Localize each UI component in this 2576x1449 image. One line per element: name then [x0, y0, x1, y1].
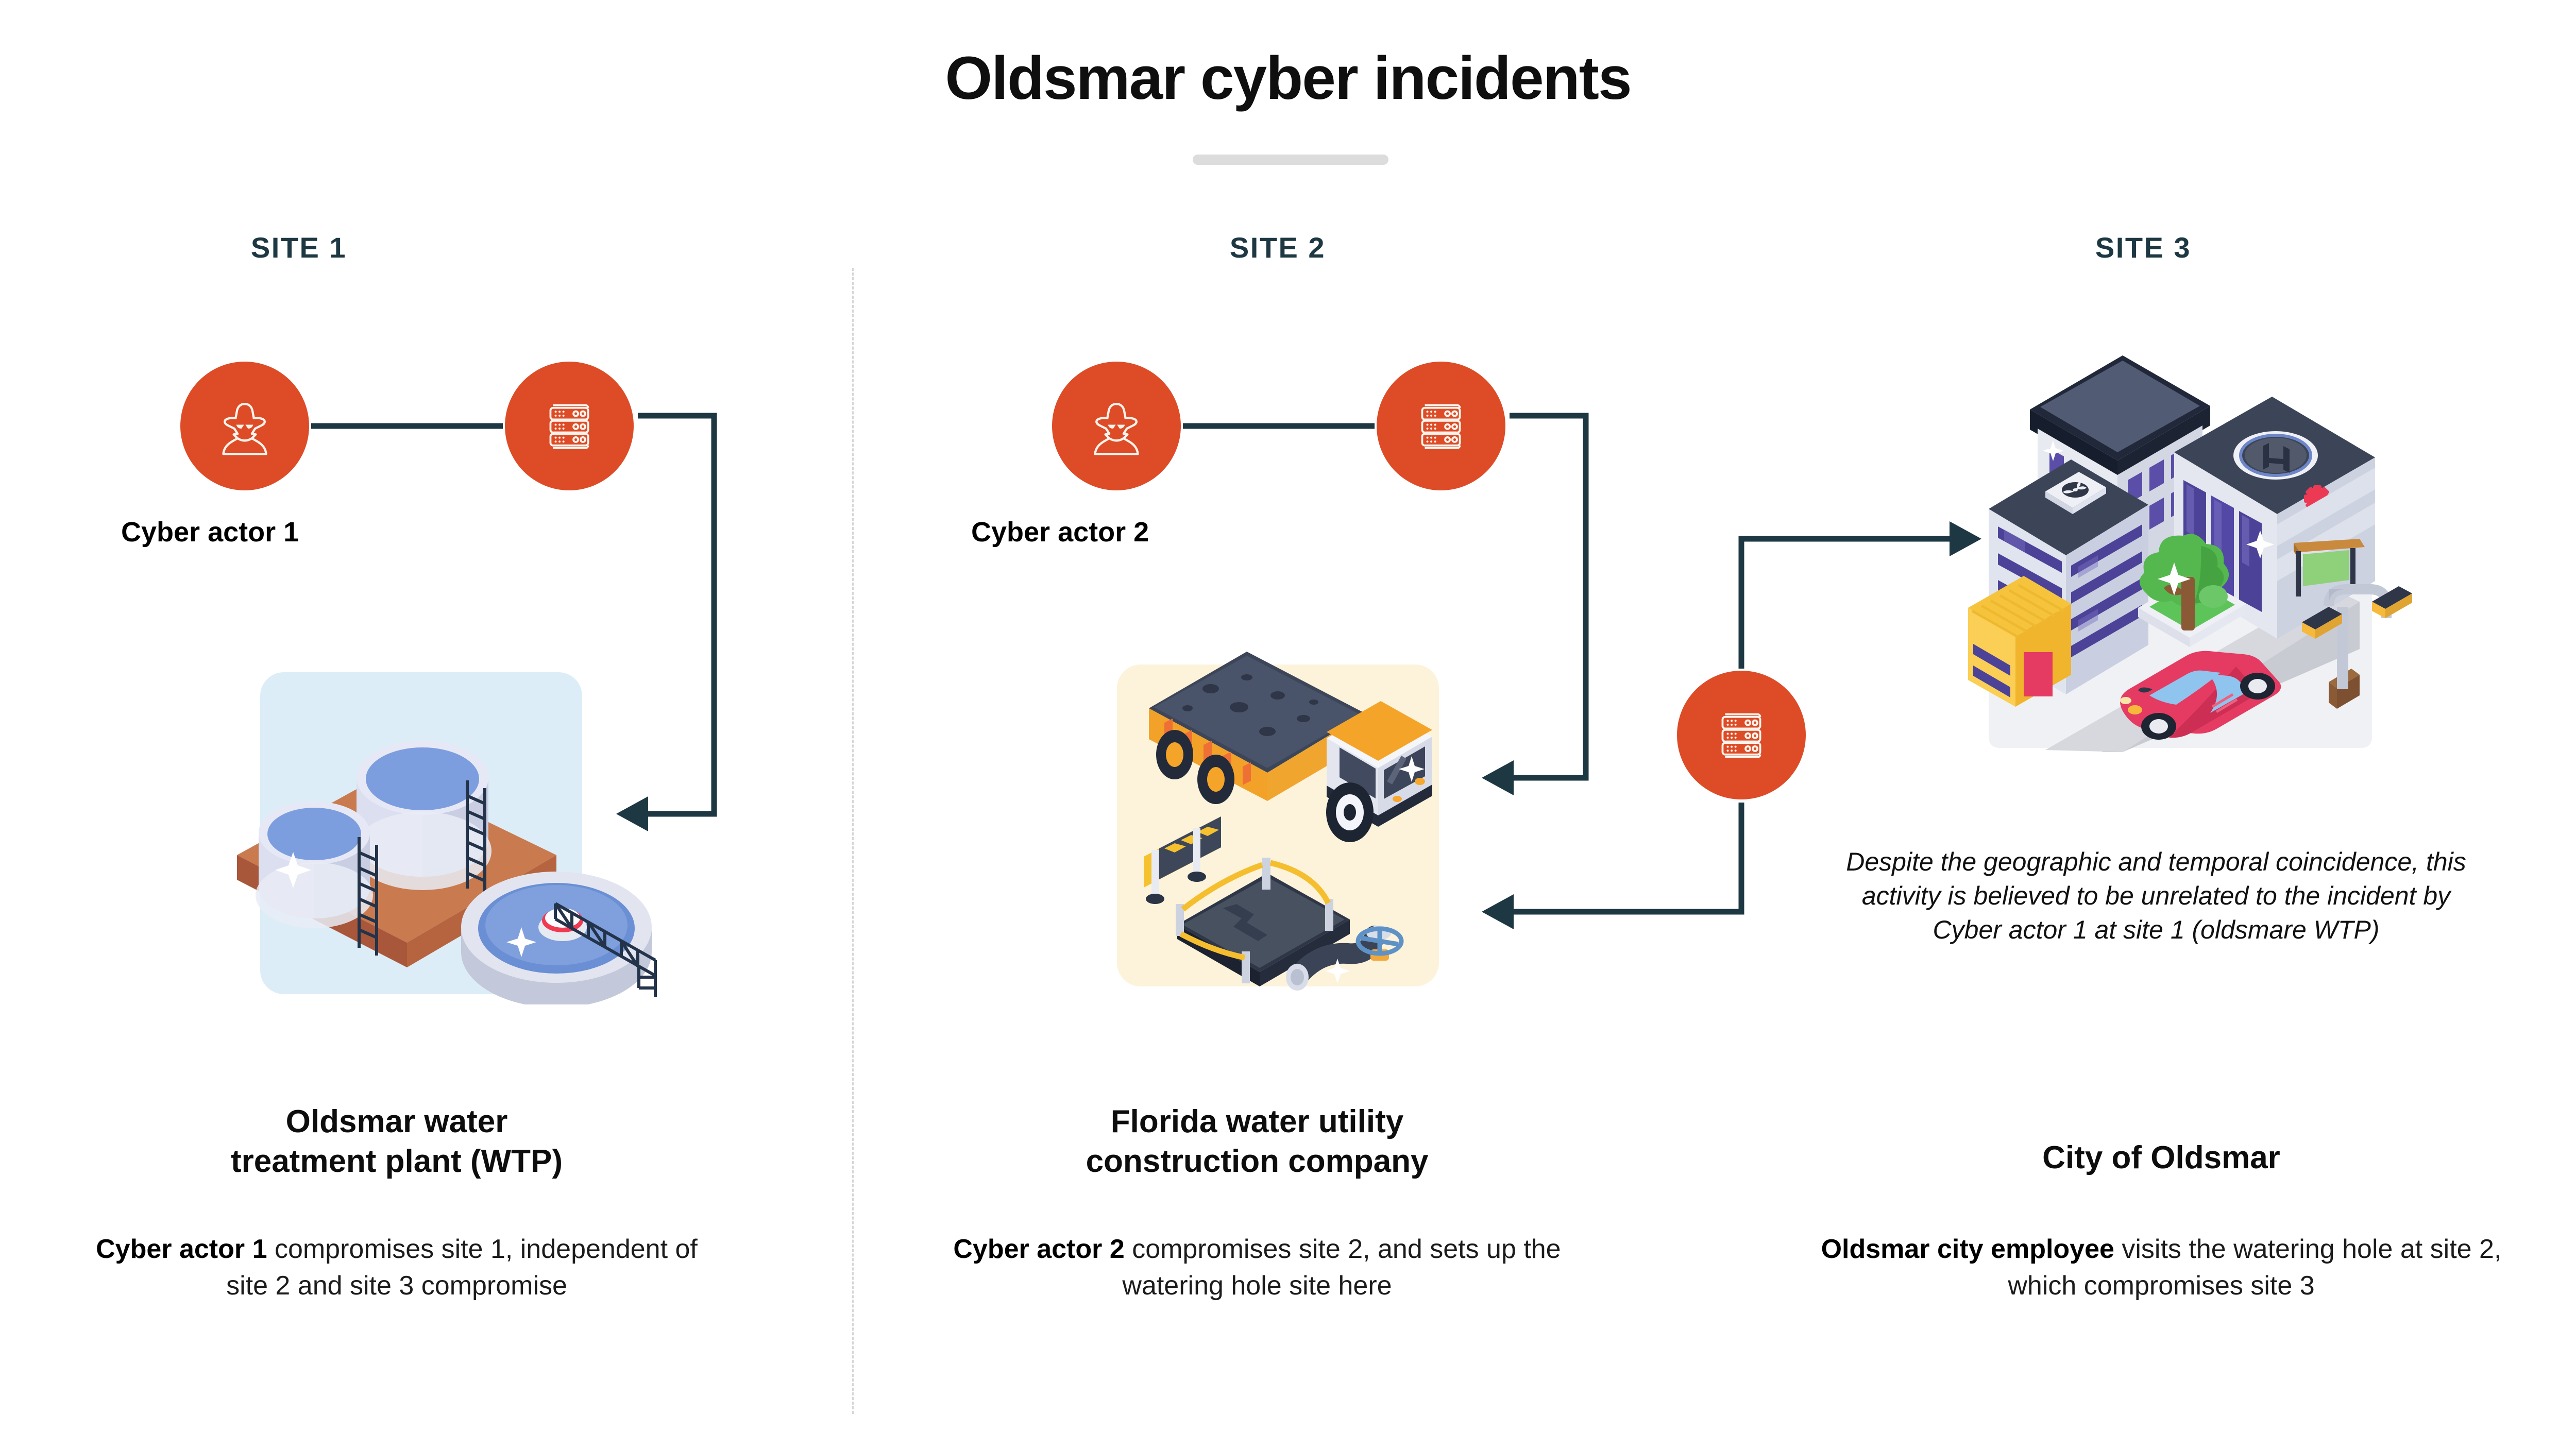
title-divider-rule: [1193, 155, 1388, 165]
water-treatment-plant-illustration: [216, 685, 670, 1004]
site-3-body-bold: Oldsmar city employee: [1821, 1234, 2114, 1264]
construction-site-illustration: [1092, 646, 1504, 997]
site-1-body-rest: compromises site 1, independent of site …: [226, 1234, 698, 1301]
isometric-city-illustration: [1968, 319, 2463, 788]
site-1-heading-line-1: Oldsmar water: [286, 1104, 508, 1139]
site-2-body-rest: compromises site 2, and sets up the wate…: [1122, 1234, 1561, 1301]
site-1-server-node[interactable]: [505, 362, 634, 490]
site-label-3: SITE 3: [1947, 231, 2339, 264]
site-1-body: Cyber actor 1 compromises site 1, indepe…: [93, 1231, 701, 1304]
server-rack-icon: [1709, 703, 1774, 768]
site-label-1: SITE 1: [196, 231, 402, 264]
site-1-body-bold: Cyber actor 1: [96, 1234, 267, 1264]
cyber-actor-1-node[interactable]: [180, 362, 309, 490]
connector-server3-site2: [1489, 803, 1741, 912]
site-3-server-node[interactable]: [1677, 671, 1806, 799]
site-label-2: SITE 2: [1123, 231, 1432, 264]
hacker-icon: [212, 394, 277, 458]
site-2-heading-line-2: construction company: [1086, 1144, 1429, 1179]
site-1-heading-line-2: treatment plant (WTP): [231, 1144, 563, 1179]
cyber-actor-2-node[interactable]: [1052, 362, 1181, 490]
server-rack-icon: [537, 394, 602, 458]
server-rack-icon: [1409, 394, 1473, 458]
column-divider: [852, 268, 854, 1414]
site-3-body: Oldsmar city employee visits the waterin…: [1819, 1231, 2504, 1304]
page-title: Oldsmar cyber incidents: [0, 45, 2576, 112]
connector-server3-city: [1741, 539, 1973, 669]
site-2-heading-line-1: Florida water utility: [1111, 1104, 1403, 1139]
site-3-heading: City of Oldsmar: [1819, 1138, 2504, 1178]
site-2-server-node[interactable]: [1377, 362, 1505, 490]
site-3-heading-line-1: City of Oldsmar: [2042, 1140, 2280, 1175]
cyber-actor-2-label: Cyber actor 2: [971, 516, 1149, 548]
site-3-note: Despite the geographic and temporal coin…: [1834, 845, 2478, 947]
site-1-heading: Oldsmar water treatment plant (WTP): [93, 1102, 701, 1182]
cyber-actor-1-label: Cyber actor 1: [121, 516, 299, 548]
site-2-body-bold: Cyber actor 2: [953, 1234, 1124, 1264]
site-2-body: Cyber actor 2 compromises site 2, and se…: [922, 1231, 1592, 1304]
site-2-heading: Florida water utility construction compa…: [922, 1102, 1592, 1182]
infographic-canvas: Oldsmar cyber incidents SITE 1 SITE 2 SI…: [0, 0, 2576, 1449]
hacker-icon: [1084, 394, 1149, 458]
